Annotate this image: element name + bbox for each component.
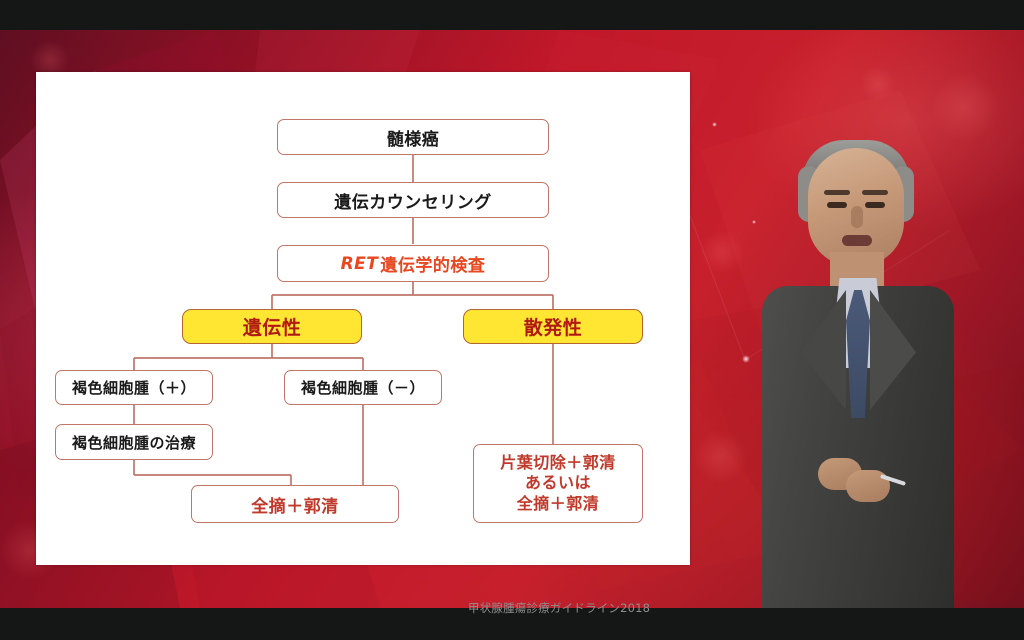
presenter-eye-left bbox=[827, 202, 847, 208]
presenter-eyebrow-left bbox=[824, 190, 850, 195]
node-hereditary[interactable]: 遺伝性 bbox=[182, 309, 362, 344]
node-label: 遺伝学的検査 bbox=[380, 251, 485, 276]
node-label: 褐色細胞腫の治療 bbox=[72, 432, 196, 453]
presenter-figure bbox=[742, 140, 972, 608]
node-ret-genetic-testing[interactable]: RET遺伝学的検査 bbox=[277, 245, 549, 282]
node-label-line1: 片葉切除＋郭清 bbox=[500, 453, 616, 473]
presenter-eye-right bbox=[865, 202, 885, 208]
node-sporadic-treatment[interactable]: 片葉切除＋郭清 あるいは 全摘＋郭清 bbox=[473, 444, 643, 523]
node-label: 全摘＋郭清 bbox=[251, 492, 339, 517]
node-label: 散発性 bbox=[524, 313, 583, 340]
bokeh-circle bbox=[700, 230, 744, 274]
spark-dot bbox=[712, 122, 717, 127]
bokeh-circle bbox=[930, 72, 1000, 142]
node-pheochromocytoma-negative[interactable]: 褐色細胞腫（－） bbox=[284, 370, 442, 405]
node-pheochromocytoma-therapy[interactable]: 褐色細胞腫の治療 bbox=[55, 424, 213, 460]
node-sporadic[interactable]: 散発性 bbox=[463, 309, 643, 344]
letterbox-bar-top bbox=[0, 0, 1024, 30]
node-genetic-counseling[interactable]: 遺伝カウンセリング bbox=[277, 182, 549, 218]
node-pheochromocytoma-positive[interactable]: 褐色細胞腫（＋） bbox=[55, 370, 213, 405]
presenter-eyebrow-right bbox=[862, 190, 888, 195]
node-label-line3: 全摘＋郭清 bbox=[517, 494, 600, 514]
bokeh-circle bbox=[860, 66, 896, 102]
node-label: 褐色細胞腫（＋） bbox=[72, 377, 196, 398]
presenter-nose bbox=[851, 206, 863, 228]
node-label-ret: RET bbox=[341, 254, 381, 274]
node-medullary-carcinoma[interactable]: 髄様癌 bbox=[277, 119, 549, 155]
presenter-mouth bbox=[842, 235, 872, 246]
bokeh-circle bbox=[694, 430, 748, 484]
video-frame: 髄様癌 遺伝カウンセリング RET遺伝学的検査 遺伝性 散発性 褐色細胞腫（＋）… bbox=[0, 0, 1024, 640]
node-label: 遺伝性 bbox=[243, 313, 302, 340]
node-label: 褐色細胞腫（－） bbox=[301, 377, 425, 398]
node-label-line2: あるいは bbox=[525, 473, 591, 493]
node-label: 遺伝カウンセリング bbox=[334, 188, 492, 213]
node-label: 髄様癌 bbox=[387, 125, 440, 150]
presentation-slide: 髄様癌 遺伝カウンセリング RET遺伝学的検査 遺伝性 散発性 褐色細胞腫（＋）… bbox=[36, 72, 690, 565]
slide-citation: 甲状腺腫瘍診療ガイドライン2018 bbox=[468, 600, 650, 616]
node-total-resection[interactable]: 全摘＋郭清 bbox=[191, 485, 399, 523]
